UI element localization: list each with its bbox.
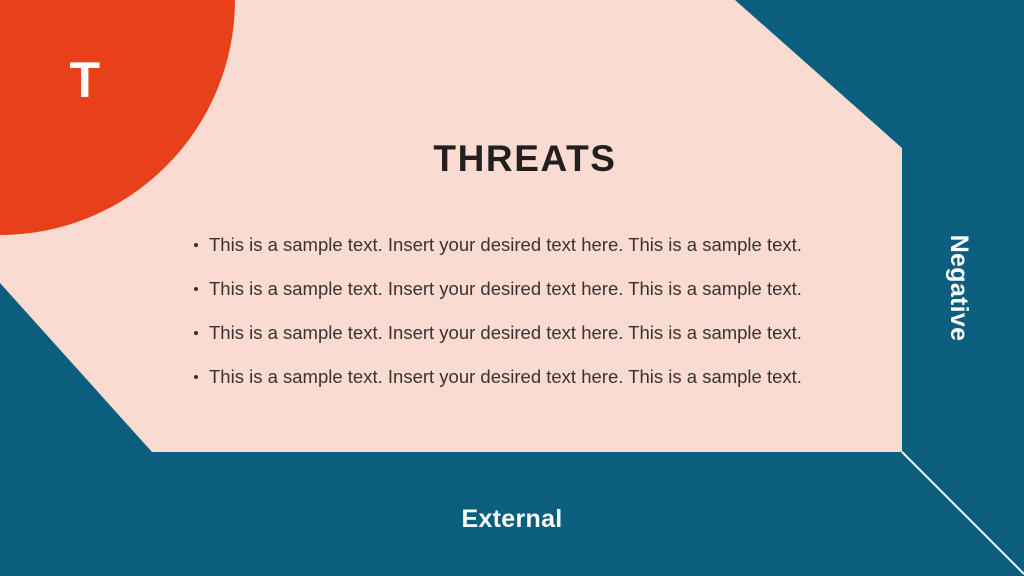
list-item-text: This is a sample text. Insert your desir… (209, 322, 802, 343)
quadrant-letter-badge: T (69, 55, 100, 105)
list-item: This is a sample text. Insert your desir… (193, 366, 893, 388)
page-title-text: THREATS (433, 139, 616, 180)
axis-label-negative: Negative (944, 235, 973, 342)
bullet-dot-icon (194, 375, 198, 379)
list-item-text: This is a sample text. Insert your desir… (209, 366, 802, 387)
bullet-dot-icon (194, 287, 198, 291)
axis-label-external-text: External (461, 505, 562, 534)
axis-label-external: External (0, 505, 1024, 534)
threats-bullet-list: This is a sample text. Insert your desir… (193, 234, 893, 388)
page-title: THREATS (0, 139, 1024, 180)
list-item: This is a sample text. Insert your desir… (193, 234, 893, 256)
list-item-text: This is a sample text. Insert your desir… (209, 278, 802, 299)
list-item-text: This is a sample text. Insert your desir… (209, 234, 802, 255)
swot-threats-slide: T THREATS This is a sample text. Insert … (0, 0, 1024, 576)
list-item: This is a sample text. Insert your desir… (193, 322, 893, 344)
list-item: This is a sample text. Insert your desir… (193, 278, 893, 300)
bullet-dot-icon (194, 331, 198, 335)
bullet-dot-icon (194, 243, 198, 247)
